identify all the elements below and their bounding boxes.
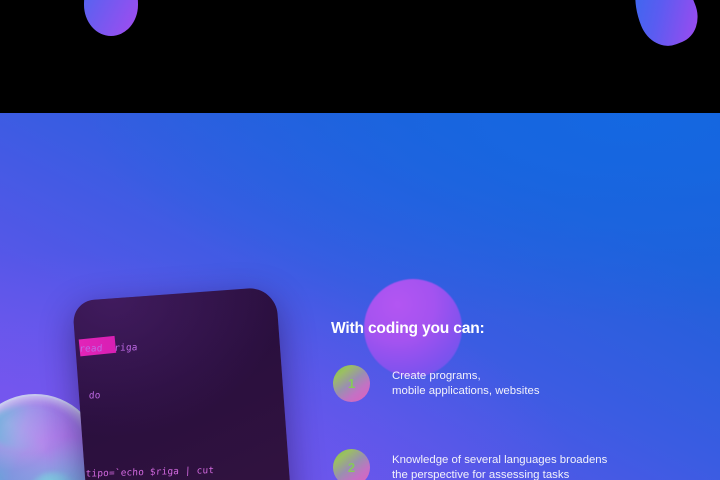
list-item-line-1: Knowledge of several languages broadens [392,453,607,468]
step-number-label: 1 [335,367,369,401]
step-number-badge: 2 [333,449,370,480]
list-item-line-2: the perspective for assessing tasks [392,468,607,480]
code-line: do [77,380,300,405]
list-item-line-1: Create programs, [392,369,540,384]
step-number-badge: 1 [333,365,370,402]
slide-background-panel: read riga do tipo=`echo $riga | cut cogn… [0,113,720,480]
slide-canvas: read riga do tipo=`echo $riga | cut cogn… [0,0,720,480]
letterbox-top-bar [0,0,720,113]
code-line [76,426,300,435]
badge-ring-inner: 2 [335,451,369,480]
badge-ring-inner: 1 [335,367,369,401]
gradient-blob-right [623,0,707,54]
code-text-block: read riga do tipo=`echo $riga | cut cogn… [72,302,300,480]
gradient-blob-left [84,0,138,36]
list-item-line-2: mobile applications, websites [392,384,540,399]
list-item-text: Knowledge of several languages broadens … [392,453,607,480]
page-title: With coding you can: [331,320,485,338]
step-number-label: 2 [335,451,369,480]
list-item: 2 Knowledge of several languages broaden… [331,449,699,480]
code-panel-image: read riga do tipo=`echo $riga | cut cogn… [72,286,300,480]
list-item-text: Create programs, mobile applications, we… [392,369,540,399]
benefits-list: 1 Create programs, mobile applications, … [331,365,699,480]
list-item: 1 Create programs, mobile applications, … [331,365,699,449]
code-line: tipo=`echo $riga | cut [74,458,300,480]
code-line: read riga [79,333,300,358]
